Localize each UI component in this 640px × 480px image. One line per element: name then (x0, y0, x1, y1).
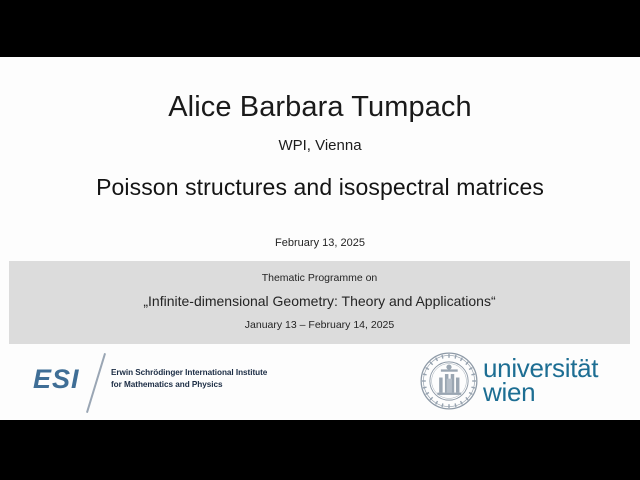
univie-wordmark-line-2: wien (483, 380, 598, 404)
talk-title: Poisson structures and isospectral matri… (0, 174, 640, 201)
video-frame: Alice Barbara Tumpach WPI, Vienna Poisso… (0, 0, 640, 480)
universitat-wien-wordmark: universität wien (483, 356, 598, 404)
talk-date: February 13, 2025 (0, 237, 640, 249)
universitat-wien-logo: universität wien (420, 348, 620, 412)
esi-slash-divider-icon (86, 353, 106, 413)
esi-wordmark: ESI (33, 364, 80, 395)
university-seal-icon (420, 352, 478, 410)
programme-banner-dates: January 13 – February 14, 2025 (9, 319, 630, 331)
esi-institute-name-line-2: for Mathematics and Physics (111, 379, 271, 391)
esi-logo: ESI Erwin Schrödinger International Inst… (33, 354, 268, 414)
programme-banner-line-1: Thematic Programme on (9, 272, 630, 284)
speaker-affiliation: WPI, Vienna (0, 137, 640, 154)
esi-institute-name-line-1: Erwin Schrödinger International Institut… (111, 367, 271, 379)
letterbox-bar-bottom (0, 420, 640, 480)
programme-banner: Thematic Programme on „Infinite-dimensio… (9, 261, 630, 344)
speaker-name: Alice Barbara Tumpach (0, 91, 640, 124)
esi-institute-name: Erwin Schrödinger International Institut… (111, 367, 271, 390)
programme-banner-title: „Infinite-dimensional Geometry: Theory a… (9, 293, 630, 309)
presentation-slide: Alice Barbara Tumpach WPI, Vienna Poisso… (0, 57, 640, 420)
letterbox-bar-top (0, 0, 640, 57)
